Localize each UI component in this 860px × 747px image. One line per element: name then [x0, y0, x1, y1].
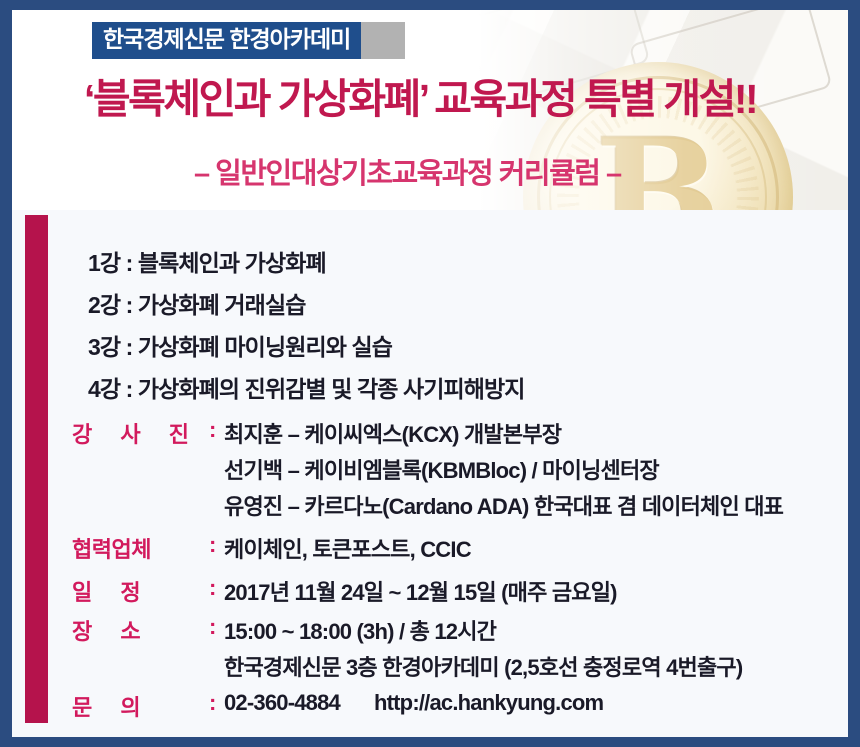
brand-badge-row: 한국경제신문 한경아카데미 [92, 22, 405, 59]
place-label: 장 소 [72, 614, 212, 646]
lecture-item-3: 3강 : 가상화폐 마이닝원리와 실습 [88, 328, 392, 362]
place-line-2: 한국경제신문 3층 한경아카데미 (2,5호선 충정로역 4번출구) [224, 650, 742, 682]
place-line-1: 15:00 ~ 18:00 (3h) / 총 12시간 [224, 614, 496, 646]
lecture-item-2: 2강 : 가상화폐 거래실습 [88, 286, 305, 320]
lecture-item-4: 4강 : 가상화폐의 진위감별 및 각종 사기피해방지 [88, 370, 525, 404]
partners-label: 협력업체 [72, 532, 212, 564]
contact-url[interactable]: http://ac.hankyung.com [374, 690, 603, 715]
page-subtitle: – 일반인대상기초교육과정 커리큘럼 – [194, 150, 621, 192]
contact-value-group: 02-360-4884http://ac.hankyung.com [224, 690, 603, 716]
page-title: ‘블록체인과 가상화폐’ 교육과정 특별 개설!! [84, 76, 756, 123]
place-colon: : [209, 614, 216, 640]
lecture-item-1: 1강 : 블록체인과 가상화폐 [88, 244, 326, 278]
brand-badge: 한국경제신문 한경아카데미 [92, 22, 361, 59]
partners-colon: : [209, 532, 216, 558]
poster-root: B 한국경제신문 한경아카데미 ‘블록체인과 가상화폐’ 교육과정 특별 개설!… [0, 0, 860, 747]
poster-inner: B 한국경제신문 한경아카데미 ‘블록체인과 가상화폐’ 교육과정 특별 개설!… [12, 10, 848, 737]
schedule-colon: : [209, 575, 216, 601]
badge-gray-block [361, 22, 405, 59]
instructor-line-1: 최지훈 – 케이씨엑스(KCX) 개발본부장 [224, 417, 561, 449]
contact-label: 문 의 [72, 690, 212, 722]
instructor-line-2: 선기백 – 케이비엠블록(KBMBloc) / 마이닝센터장 [224, 453, 659, 485]
contact-colon: : [209, 690, 216, 716]
schedule-label: 일 정 [72, 575, 212, 607]
instructors-colon: : [209, 417, 216, 443]
instructor-line-3: 유영진 – 카르다노(Cardano ADA) 한국대표 겸 데이터체인 대표 [224, 489, 783, 521]
schedule-value: 2017년 11월 24일 ~ 12월 15일 (매주 금요일) [224, 575, 617, 607]
accent-bar [25, 215, 48, 723]
partners-value: 케이체인, 토큰포스트, CCIC [224, 532, 471, 564]
contact-phone: 02-360-4884 [224, 690, 340, 715]
instructors-label: 강 사 진 [72, 417, 212, 449]
